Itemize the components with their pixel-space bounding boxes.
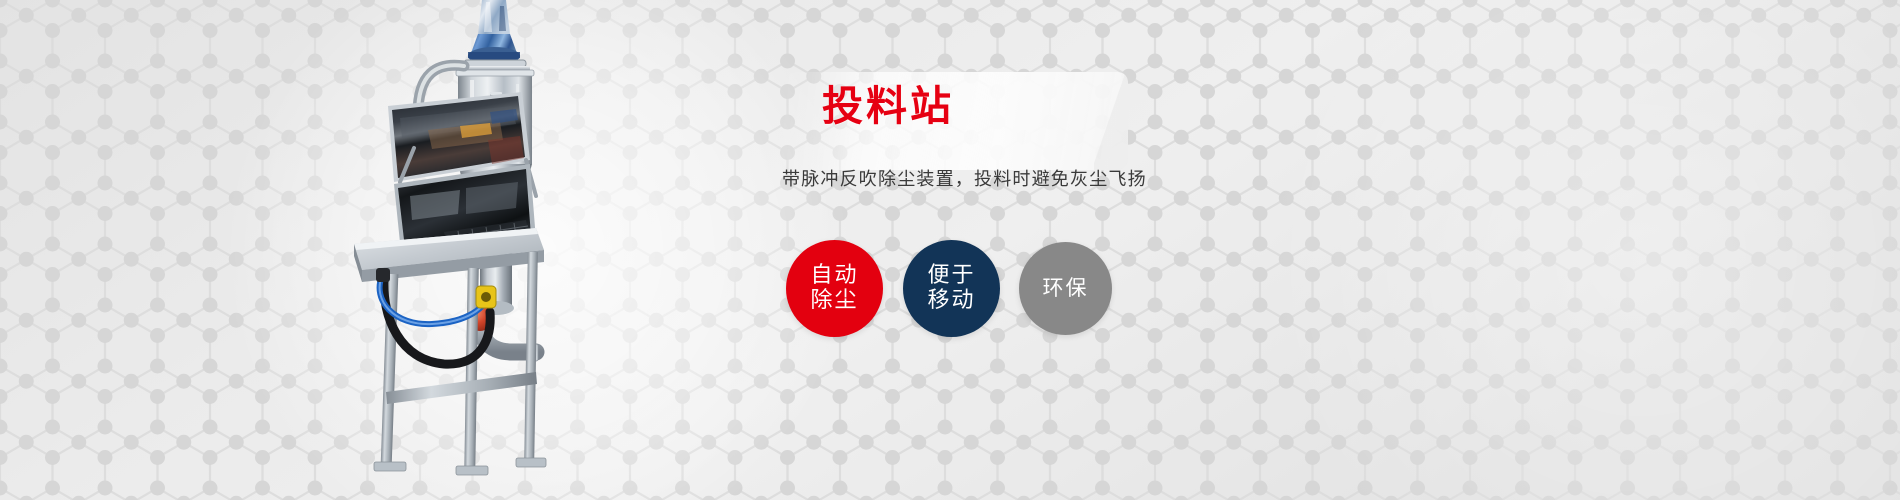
feature-bubble-eco[interactable]: 环保 bbox=[1019, 242, 1112, 335]
page-title: 投料站 bbox=[822, 86, 954, 127]
feature-line-1: 环保 bbox=[1043, 277, 1089, 301]
feature-bubble-easy-move[interactable]: 便于 移动 bbox=[903, 240, 1000, 337]
feature-line-1: 自动 bbox=[810, 264, 858, 289]
filter-bag-assembly bbox=[468, 0, 520, 65]
feature-line-1: 便于 bbox=[927, 264, 975, 289]
subtitle-text: 带脉冲反吹除尘装置，投料时避免灰尘飞扬 bbox=[782, 165, 1147, 191]
feature-line-2: 除尘 bbox=[810, 289, 858, 314]
feature-line-2: 移动 bbox=[927, 289, 975, 314]
banner-content: 投料站 带脉冲反吹除尘装置，投料时避免灰尘飞扬 自动 除尘 便于 移动 环保 bbox=[780, 0, 1380, 500]
product-photo bbox=[340, 0, 640, 500]
product-banner: 投料站 带脉冲反吹除尘装置，投料时避免灰尘飞扬 自动 除尘 便于 移动 环保 bbox=[0, 0, 1900, 500]
feature-bubble-auto-dedust[interactable]: 自动 除尘 bbox=[786, 240, 883, 337]
